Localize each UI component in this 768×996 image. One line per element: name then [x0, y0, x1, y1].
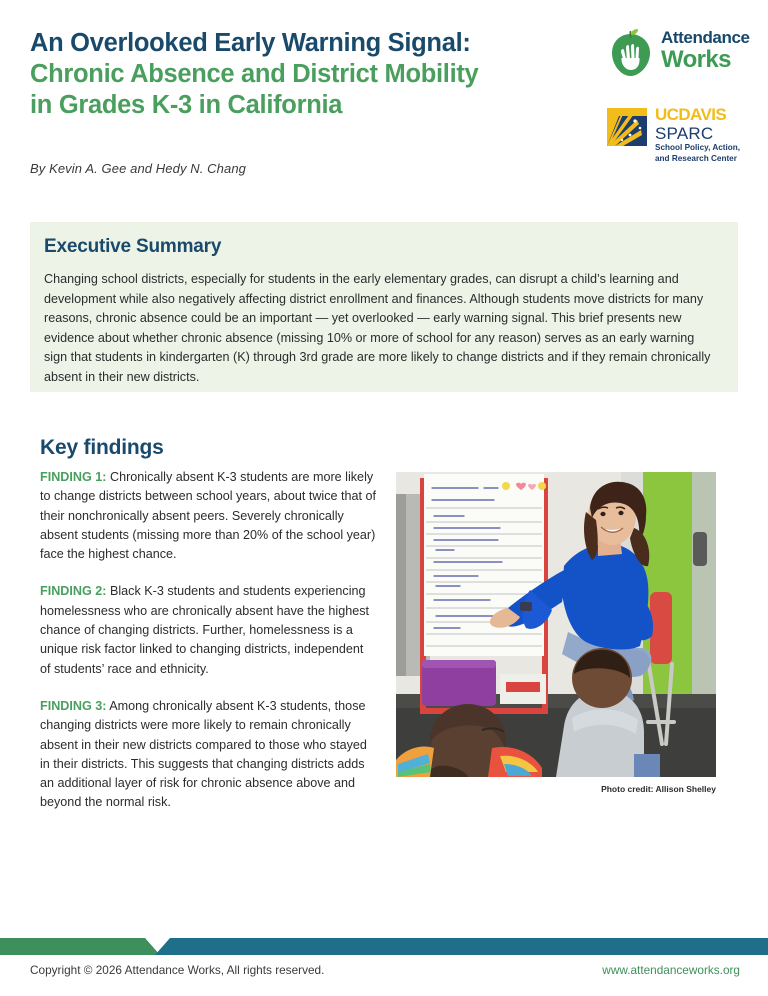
- sparc-name: SPARC: [655, 124, 740, 143]
- finding-text: Among chronically absent K-3 students, t…: [40, 699, 367, 809]
- attendance-works-wordmark: Attendance Works: [661, 28, 750, 73]
- sparc-tagline-line1: School Policy, Action,: [655, 143, 740, 154]
- ucdavis-name: UCDAVIS: [655, 106, 740, 124]
- key-findings-list: FINDING 1: Chronically absent K-3 studen…: [40, 468, 377, 831]
- finding-label: FINDING 2:: [40, 584, 106, 598]
- finding-label: FINDING 1:: [40, 470, 106, 484]
- footer-copyright: Copyright © 2026 Attendance Works, All r…: [30, 963, 324, 977]
- footer-accent-bar-green: [0, 938, 160, 955]
- ucdavis-uc: UC: [655, 105, 678, 124]
- classroom-photo: [396, 472, 716, 777]
- page-title: An Overlooked Early Warning Signal: Chro…: [30, 28, 590, 121]
- key-findings-heading: Key findings: [40, 436, 164, 460]
- ucdavis-sparc-wordmark: UCDAVIS SPARC School Policy, Action, and…: [655, 106, 740, 164]
- green-apple-hand-icon: [607, 28, 655, 78]
- footer-website-link[interactable]: www.attendanceworks.org: [602, 963, 740, 977]
- ucdavis-sparc-logo[interactable]: UCDAVIS SPARC School Policy, Action, and…: [607, 106, 759, 168]
- ucdavis-sunburst-icon: [607, 108, 647, 146]
- finding-item: FINDING 2: Black K-3 students and studen…: [40, 582, 377, 678]
- aw-line-attendance: Attendance: [661, 28, 750, 47]
- finding-label: FINDING 3:: [40, 699, 106, 713]
- finding-item: FINDING 1: Chronically absent K-3 studen…: [40, 468, 377, 564]
- footer-accent-bar-teal: [155, 938, 768, 955]
- aw-line-works: Works: [661, 47, 750, 73]
- title-line-1: An Overlooked Early Warning Signal:: [30, 28, 590, 59]
- executive-summary-heading: Executive Summary: [44, 236, 221, 258]
- document-header: An Overlooked Early Warning Signal: Chro…: [0, 0, 768, 200]
- attendance-works-logo[interactable]: Attendance Works: [607, 26, 757, 82]
- byline: By Kevin A. Gee and Hedy N. Chang: [30, 161, 246, 176]
- title-line-2: Chronic Absence and District Mobility: [30, 59, 590, 90]
- executive-summary-body: Changing school districts, especially fo…: [44, 270, 716, 388]
- classroom-photo-figure: [396, 472, 716, 777]
- ucdavis-davis: DAVIS: [678, 105, 726, 124]
- photo-credit: Photo credit: Allison Shelley: [396, 784, 716, 794]
- title-line-3: in Grades K-3 in California: [30, 90, 590, 121]
- finding-item: FINDING 3: Among chronically absent K-3 …: [40, 697, 377, 813]
- executive-summary-panel: Executive Summary Changing school distri…: [30, 222, 738, 392]
- sparc-tagline-line2: and Research Center: [655, 154, 740, 165]
